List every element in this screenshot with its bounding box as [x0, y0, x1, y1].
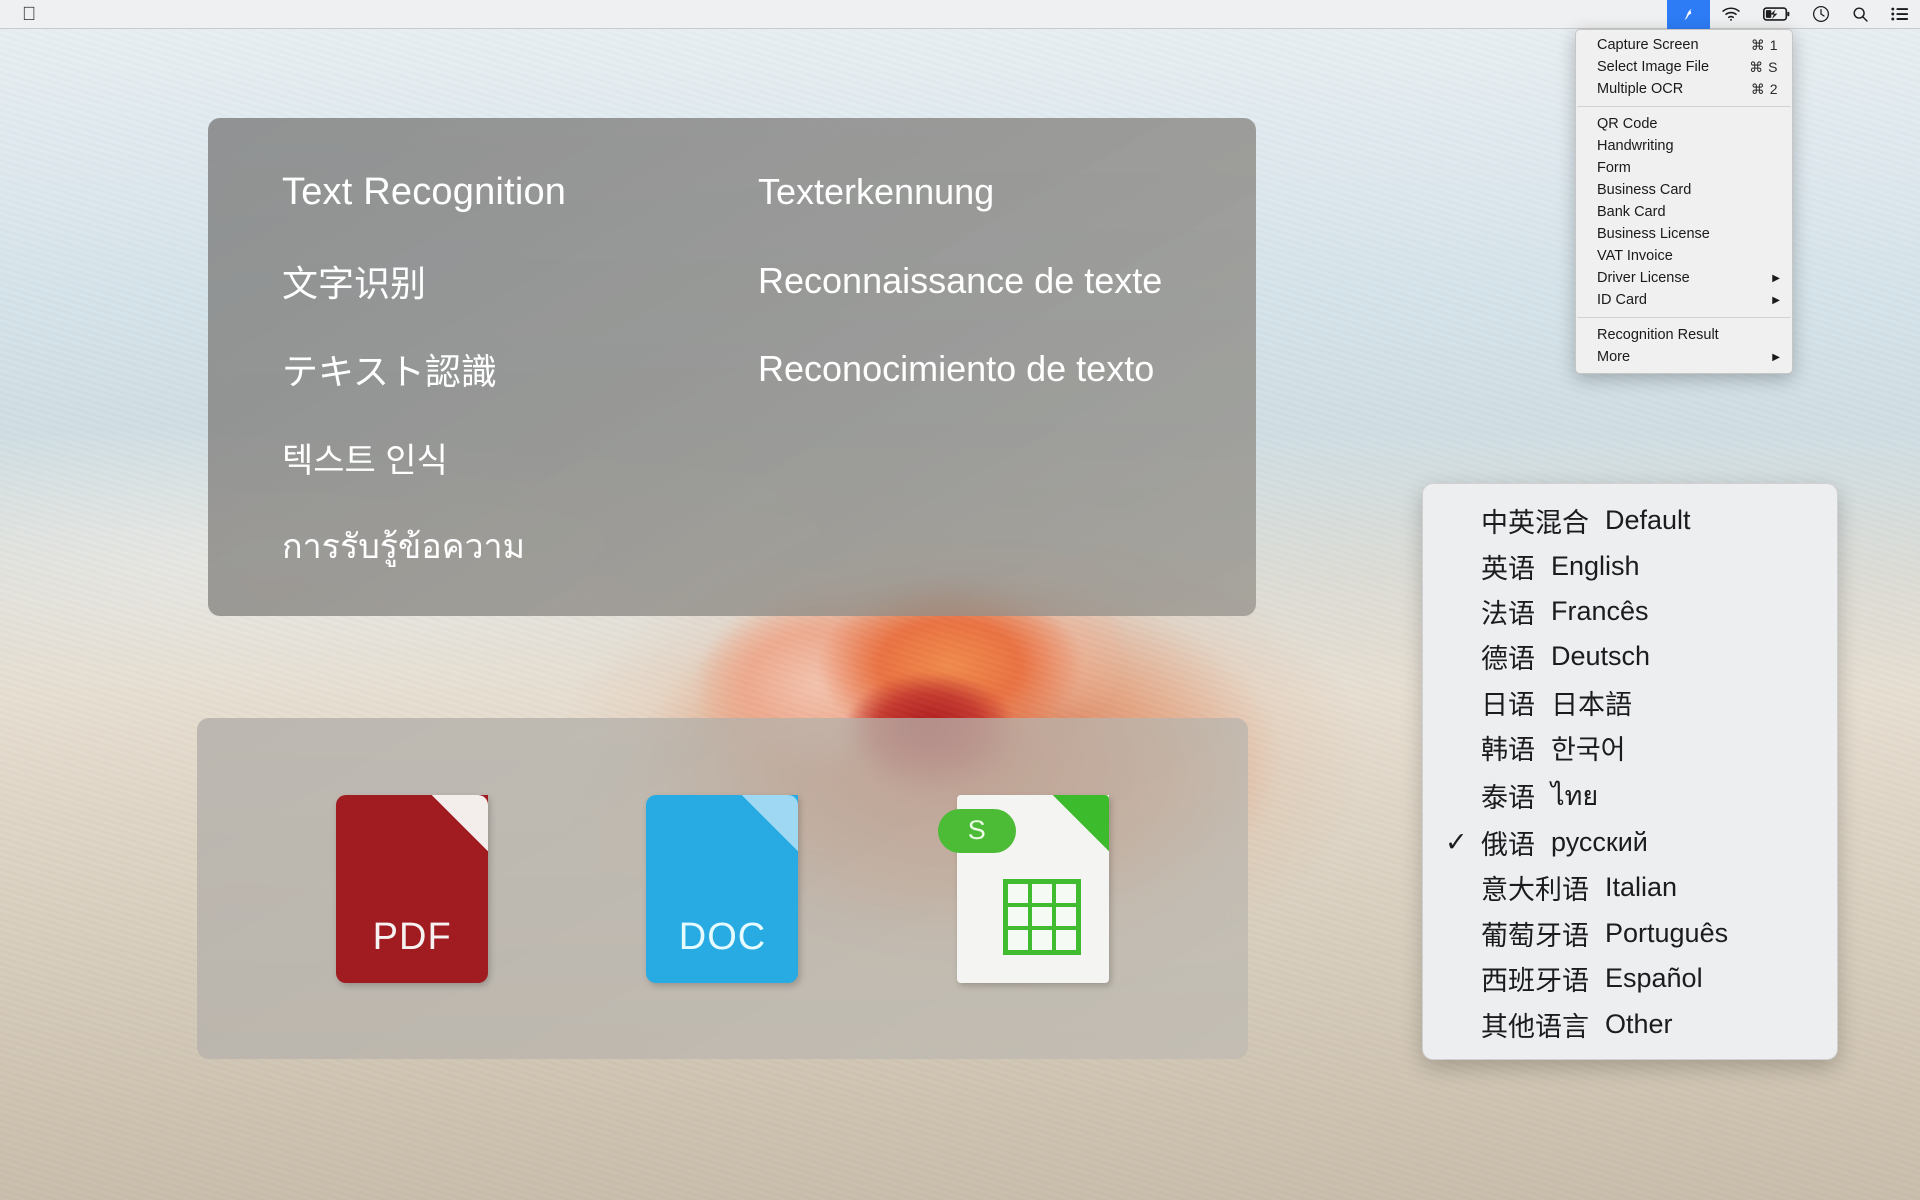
language-option-en-label: Português — [1605, 918, 1728, 949]
language-option-zh-label: 英语 — [1481, 547, 1535, 586]
language-option-default[interactable]: 中英混合 Default — [1423, 501, 1837, 540]
text-sample-spanish: Reconocimiento de texto — [732, 325, 1256, 413]
menu-item-label: QR Code — [1597, 115, 1657, 134]
text-recognition-language-grid: Text Recognition Texterkennung 文字识别 Reco… — [208, 118, 1256, 616]
pdf-file-icon[interactable]: PDF — [336, 795, 488, 983]
menu-item-label: Select Image File — [1597, 58, 1709, 77]
menu-bar-status-items — [1667, 0, 1920, 29]
chevron-right-icon: ▶ — [1772, 348, 1783, 367]
language-selection-popup: 中英混合 Default 英语 English 法语 Francês 德语 De… — [1422, 483, 1838, 1060]
language-option-korean[interactable]: 韩语 한국어 — [1423, 728, 1837, 767]
menu-bar:  — [0, 0, 1920, 29]
language-option-en-label: Francês — [1551, 596, 1649, 627]
text-sample-german: Texterkennung — [732, 148, 1256, 236]
wifi-icon[interactable] — [1710, 0, 1752, 29]
language-option-zh-label: 意大利语 — [1481, 868, 1589, 907]
language-option-en-label: Other — [1605, 1009, 1673, 1040]
language-option-en-label: 한국어 — [1551, 728, 1626, 767]
menu-item-id-card[interactable]: ID Card ▶ — [1576, 289, 1792, 311]
menu-item-bank-card[interactable]: Bank Card — [1576, 201, 1792, 223]
text-panel-spacer — [732, 502, 1256, 590]
language-option-japanese[interactable]: 日语 日本語 — [1423, 683, 1837, 722]
language-option-zh-label: 德语 — [1481, 637, 1535, 676]
menu-item-shortcut: ⌘ 2 — [1751, 80, 1783, 99]
language-option-zh-label: 葡萄牙语 — [1481, 914, 1589, 953]
menu-item-label: More — [1597, 348, 1630, 367]
menu-item-label: Capture Screen — [1597, 36, 1699, 55]
menu-item-label: ID Card — [1597, 291, 1647, 310]
text-panel-spacer — [732, 413, 1256, 501]
page-fold-corner-icon — [1053, 795, 1109, 851]
file-icon-row: PDF DOC S — [197, 718, 1248, 1059]
spreadsheet-grid-icon — [1003, 879, 1081, 955]
text-sample-thai: การรับรู้ข้อความ — [208, 502, 732, 590]
language-option-zh-label: 中英混合 — [1481, 501, 1589, 540]
menu-item-qr-code[interactable]: QR Code — [1576, 113, 1792, 135]
language-option-en-label: Español — [1605, 963, 1703, 994]
battery-charging-icon[interactable] — [1752, 0, 1801, 29]
menu-item-vat-invoice[interactable]: VAT Invoice — [1576, 245, 1792, 267]
language-option-french[interactable]: 法语 Francês — [1423, 592, 1837, 631]
language-option-thai[interactable]: 泰语 ไทย — [1423, 774, 1837, 817]
menu-separator — [1577, 106, 1791, 107]
chevron-right-icon: ▶ — [1772, 269, 1783, 288]
doc-file-icon[interactable]: DOC — [646, 795, 798, 983]
spreadsheet-file-icon[interactable]: S — [957, 795, 1109, 983]
menu-item-handwriting[interactable]: Handwriting — [1576, 135, 1792, 157]
menu-item-label: Recognition Result — [1597, 326, 1719, 345]
language-option-en-label: English — [1551, 551, 1640, 582]
checkmark-icon: ✓ — [1445, 829, 1481, 856]
menu-separator — [1577, 317, 1791, 318]
language-option-italian[interactable]: 意大利语 Italian — [1423, 868, 1837, 907]
app-status-icon[interactable] — [1667, 0, 1710, 29]
menu-item-business-card[interactable]: Business Card — [1576, 179, 1792, 201]
menu-item-driver-license[interactable]: Driver License ▶ — [1576, 267, 1792, 289]
menu-item-shortcut: ⌘ S — [1749, 58, 1783, 77]
menu-item-label: Driver License — [1597, 269, 1690, 288]
control-center-icon[interactable] — [1880, 0, 1920, 29]
language-option-zh-label: 西班牙语 — [1481, 959, 1589, 998]
language-option-en-label: русский — [1551, 827, 1648, 858]
language-option-en-label: Deutsch — [1551, 641, 1650, 672]
page-fold-corner-icon — [742, 795, 798, 851]
menu-item-select-image-file[interactable]: Select Image File ⌘ S — [1576, 56, 1792, 78]
text-sample-chinese: 文字识别 — [208, 236, 732, 324]
apple-logo-icon[interactable]:  — [22, 5, 36, 24]
language-option-russian[interactable]: ✓ 俄语 русский — [1423, 823, 1837, 862]
file-formats-panel: PDF DOC S — [197, 718, 1248, 1059]
page-fold-corner-icon — [432, 795, 488, 851]
menu-item-multiple-ocr[interactable]: Multiple OCR ⌘ 2 — [1576, 78, 1792, 100]
menu-item-label: Multiple OCR — [1597, 80, 1683, 99]
menu-group-modes: QR Code Handwriting Form Business Card B… — [1576, 113, 1792, 311]
menu-item-label: Business License — [1597, 225, 1710, 244]
menu-item-label: Handwriting — [1597, 137, 1674, 156]
text-sample-english: Text Recognition — [208, 148, 732, 236]
clock-icon[interactable] — [1801, 0, 1841, 29]
menu-item-form[interactable]: Form — [1576, 157, 1792, 179]
menu-item-shortcut: ⌘ 1 — [1751, 36, 1783, 55]
search-icon[interactable] — [1841, 0, 1880, 29]
text-sample-japanese: テキスト認識 — [208, 325, 732, 413]
app-dropdown-menu: Capture Screen ⌘ 1 Select Image File ⌘ S… — [1575, 29, 1793, 374]
language-option-zh-label: 俄语 — [1481, 823, 1535, 862]
menu-item-label: Bank Card — [1597, 203, 1666, 222]
menu-item-label: Form — [1597, 159, 1631, 178]
spreadsheet-s-badge: S — [938, 809, 1016, 853]
text-sample-korean: 텍스트 인식 — [208, 413, 732, 501]
language-option-zh-label: 日语 — [1481, 683, 1535, 722]
language-option-english[interactable]: 英语 English — [1423, 547, 1837, 586]
language-option-zh-label: 韩语 — [1481, 728, 1535, 767]
spreadsheet-badge-label: S — [968, 815, 986, 846]
language-option-german[interactable]: 德语 Deutsch — [1423, 637, 1837, 676]
language-option-en-label: 日本語 — [1551, 683, 1632, 722]
text-recognition-panel: Text Recognition Texterkennung 文字识别 Reco… — [208, 118, 1256, 616]
pdf-file-label: PDF — [336, 916, 488, 959]
language-option-zh-label: 其他语言 — [1481, 1005, 1589, 1044]
doc-file-label: DOC — [646, 916, 798, 959]
language-option-en-label: ไทย — [1551, 774, 1598, 817]
menu-group-capture: Capture Screen ⌘ 1 Select Image File ⌘ S… — [1576, 34, 1792, 100]
language-option-en-label: Italian — [1605, 872, 1677, 903]
menu-item-recognition-result[interactable]: Recognition Result — [1576, 324, 1792, 346]
menu-item-label: VAT Invoice — [1597, 247, 1673, 266]
language-option-zh-label: 法语 — [1481, 592, 1535, 631]
chevron-right-icon: ▶ — [1772, 291, 1783, 310]
menu-item-more[interactable]: More ▶ — [1576, 346, 1792, 368]
language-option-zh-label: 泰语 — [1481, 776, 1535, 815]
menu-item-business-license[interactable]: Business License — [1576, 223, 1792, 245]
text-sample-french: Reconnaissance de texte — [732, 236, 1256, 324]
menu-item-label: Business Card — [1597, 181, 1691, 200]
language-option-spanish[interactable]: 西班牙语 Español — [1423, 959, 1837, 998]
language-option-en-label: Default — [1605, 505, 1691, 536]
menu-item-capture-screen[interactable]: Capture Screen ⌘ 1 — [1576, 34, 1792, 56]
language-option-portuguese[interactable]: 葡萄牙语 Português — [1423, 914, 1837, 953]
menu-group-results: Recognition Result More ▶ — [1576, 324, 1792, 368]
language-option-other[interactable]: 其他语言 Other — [1423, 1005, 1837, 1044]
